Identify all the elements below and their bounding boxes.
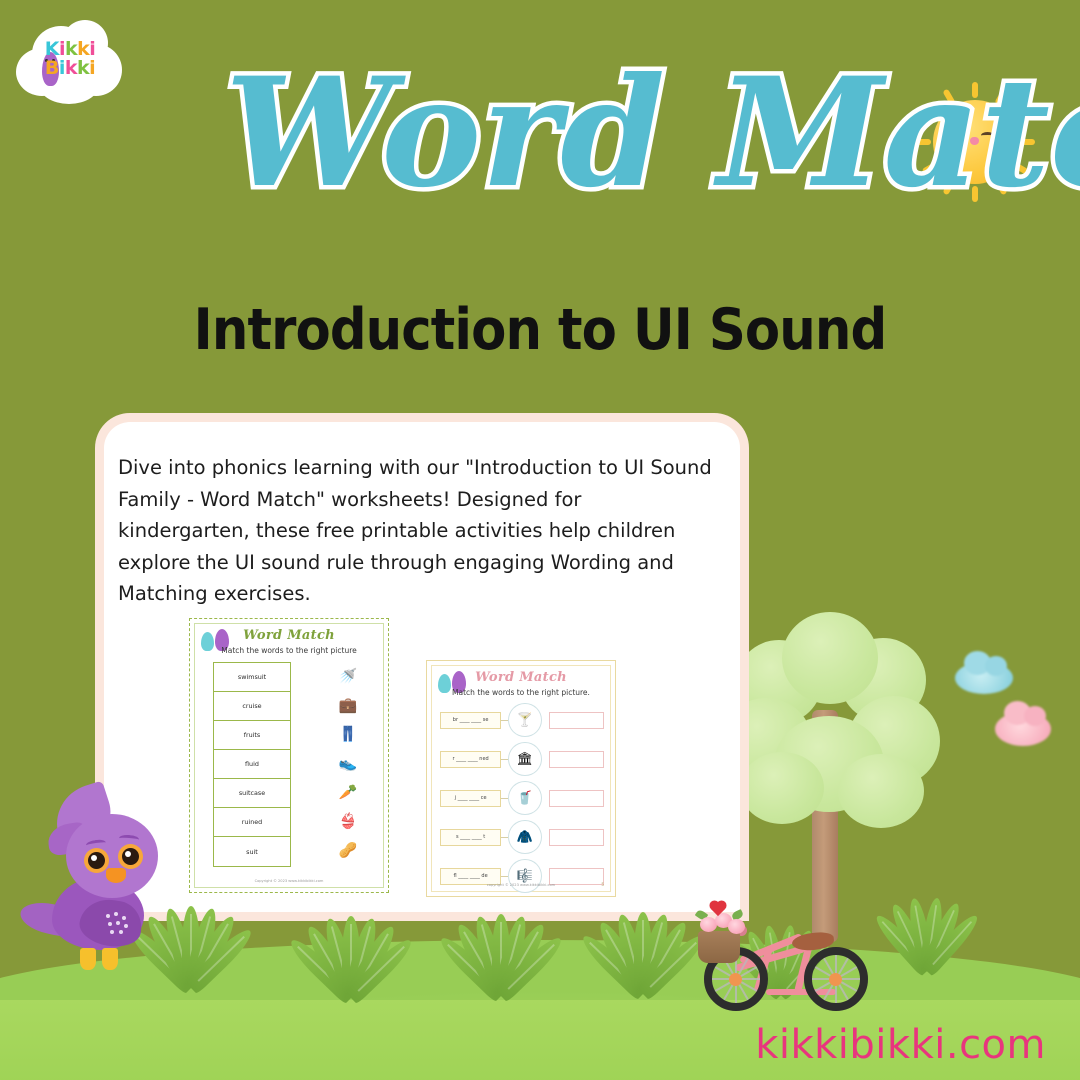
cloud-icon (995, 712, 1051, 746)
answer-box[interactable] (549, 829, 604, 846)
shoe-icon: 👟 (339, 756, 358, 771)
match-row: br ____ ____ se 🍸 (440, 702, 604, 738)
bush-icon (430, 900, 570, 996)
picture-bubble: 🧥 (508, 820, 542, 854)
cloud-icon (955, 662, 1013, 694)
drawn-match-line (432, 666, 433, 667)
poster-canvas: Kikki Bikki Word Match Introduction to U… (0, 0, 1080, 1080)
bush-icon (863, 885, 989, 971)
picture-cell: 👙 (315, 807, 381, 836)
connector-line (501, 876, 508, 877)
worksheet-page-number: 5 (601, 882, 604, 887)
word-blank-box[interactable]: r ____ ____ ned (440, 751, 501, 768)
worksheet-copyright: copyright © 2023 www.kikkibikki.com (432, 883, 610, 887)
word-cell: ruined (214, 808, 290, 837)
worksheet-preview-right[interactable]: Word Match Match the words to the right … (426, 660, 616, 897)
bush-icon (280, 902, 420, 998)
flute-icon: 🎼 (517, 870, 533, 883)
word-blank-box[interactable]: s ____ ____ t (440, 829, 501, 846)
bird-mascot (18, 782, 193, 987)
picture-cell: 🚿 (315, 662, 381, 691)
bush-icon (572, 898, 712, 994)
picture-cell: 🥜 (315, 836, 381, 865)
picture-cell: 👖 (315, 720, 381, 749)
page-title: Word Match (225, 55, 865, 213)
flower-basket-icon (698, 931, 740, 963)
word-cell: suit (214, 837, 290, 866)
answer-box[interactable] (549, 790, 604, 807)
word-cell: swimsuit (214, 663, 290, 692)
word-cell: fruits (214, 721, 290, 750)
worksheet-instruction: Match the words to the right picture. (432, 688, 610, 697)
match-row: s ____ ____ t 🧥 (440, 819, 604, 855)
worksheet-title: Word Match (432, 670, 610, 685)
page-subtitle: Introduction to UI Sound (54, 302, 1026, 359)
picture-cell: 🥕 (315, 778, 381, 807)
match-row: j ____ ____ ce 🥤 (440, 780, 604, 816)
connector-line (501, 837, 508, 838)
drink-icon: 🍸 (517, 714, 533, 727)
picture-bubble: 🏛 (508, 742, 542, 776)
swimsuit-icon: 👙 (339, 814, 358, 829)
answer-box[interactable] (549, 868, 604, 885)
match-row: fl ____ ____ de 🎼 (440, 858, 604, 894)
bicycle-icon (700, 905, 880, 1020)
connector-line (501, 720, 508, 721)
site-url[interactable]: kikkibikki.com (755, 1022, 1046, 1068)
picture-cell: 👟 (315, 749, 381, 778)
logo-wordmark: Kikki Bikki (14, 40, 126, 78)
worksheet-title: Word Match (195, 628, 383, 643)
picture-bubble: 🥤 (508, 781, 542, 815)
salad-icon: 🥕 (339, 785, 358, 800)
brand-logo[interactable]: Kikki Bikki (14, 18, 126, 118)
picture-bubble: 🍸 (508, 703, 542, 737)
worksheet-match-rows: br ____ ____ se 🍸 r ____ ____ ned 🏛 (440, 702, 604, 897)
word-blank-box[interactable]: fl ____ ____ de (440, 868, 501, 885)
word-cell: cruise (214, 692, 290, 721)
worksheet-word-column: swimsuit cruise fruits fluid suitcase ru… (213, 662, 291, 867)
word-cell: suitcase (214, 779, 290, 808)
worksheet-preview-left[interactable]: Word Match Match the words to the right … (189, 618, 389, 893)
word-blank-box[interactable]: j ____ ____ ce (440, 790, 501, 807)
description-text: Dive into phonics learning with our "Int… (118, 452, 718, 610)
worksheet-picture-column: 🚿 💼 👖 👟 🥕 👙 🥜 (315, 662, 381, 865)
answer-box[interactable] (549, 712, 604, 729)
clothes-icon: 👖 (339, 727, 358, 742)
match-row: r ____ ____ ned 🏛 (440, 741, 604, 777)
suit-icon: 🧥 (517, 831, 533, 844)
connector-line (501, 759, 508, 760)
worksheet-instruction: Match the words to the right picture (195, 646, 383, 655)
shower-icon: 🚿 (339, 669, 358, 684)
worksheet-copyright: Copyright © 2023 www.kikkibikki.com (195, 879, 383, 883)
ruins-icon: 🏛 (517, 753, 534, 766)
juice-icon: 🥤 (517, 792, 533, 805)
peanuts-icon: 🥜 (339, 843, 358, 858)
word-cell: fluid (214, 750, 290, 779)
picture-bubble: 🎼 (508, 859, 542, 893)
picture-cell: 💼 (315, 691, 381, 720)
word-blank-box[interactable]: br ____ ____ se (440, 712, 501, 729)
content-card: Dive into phonics learning with our "Int… (104, 422, 740, 912)
answer-box[interactable] (549, 751, 604, 768)
connector-line (501, 798, 508, 799)
luggage-icon: 💼 (339, 698, 358, 713)
